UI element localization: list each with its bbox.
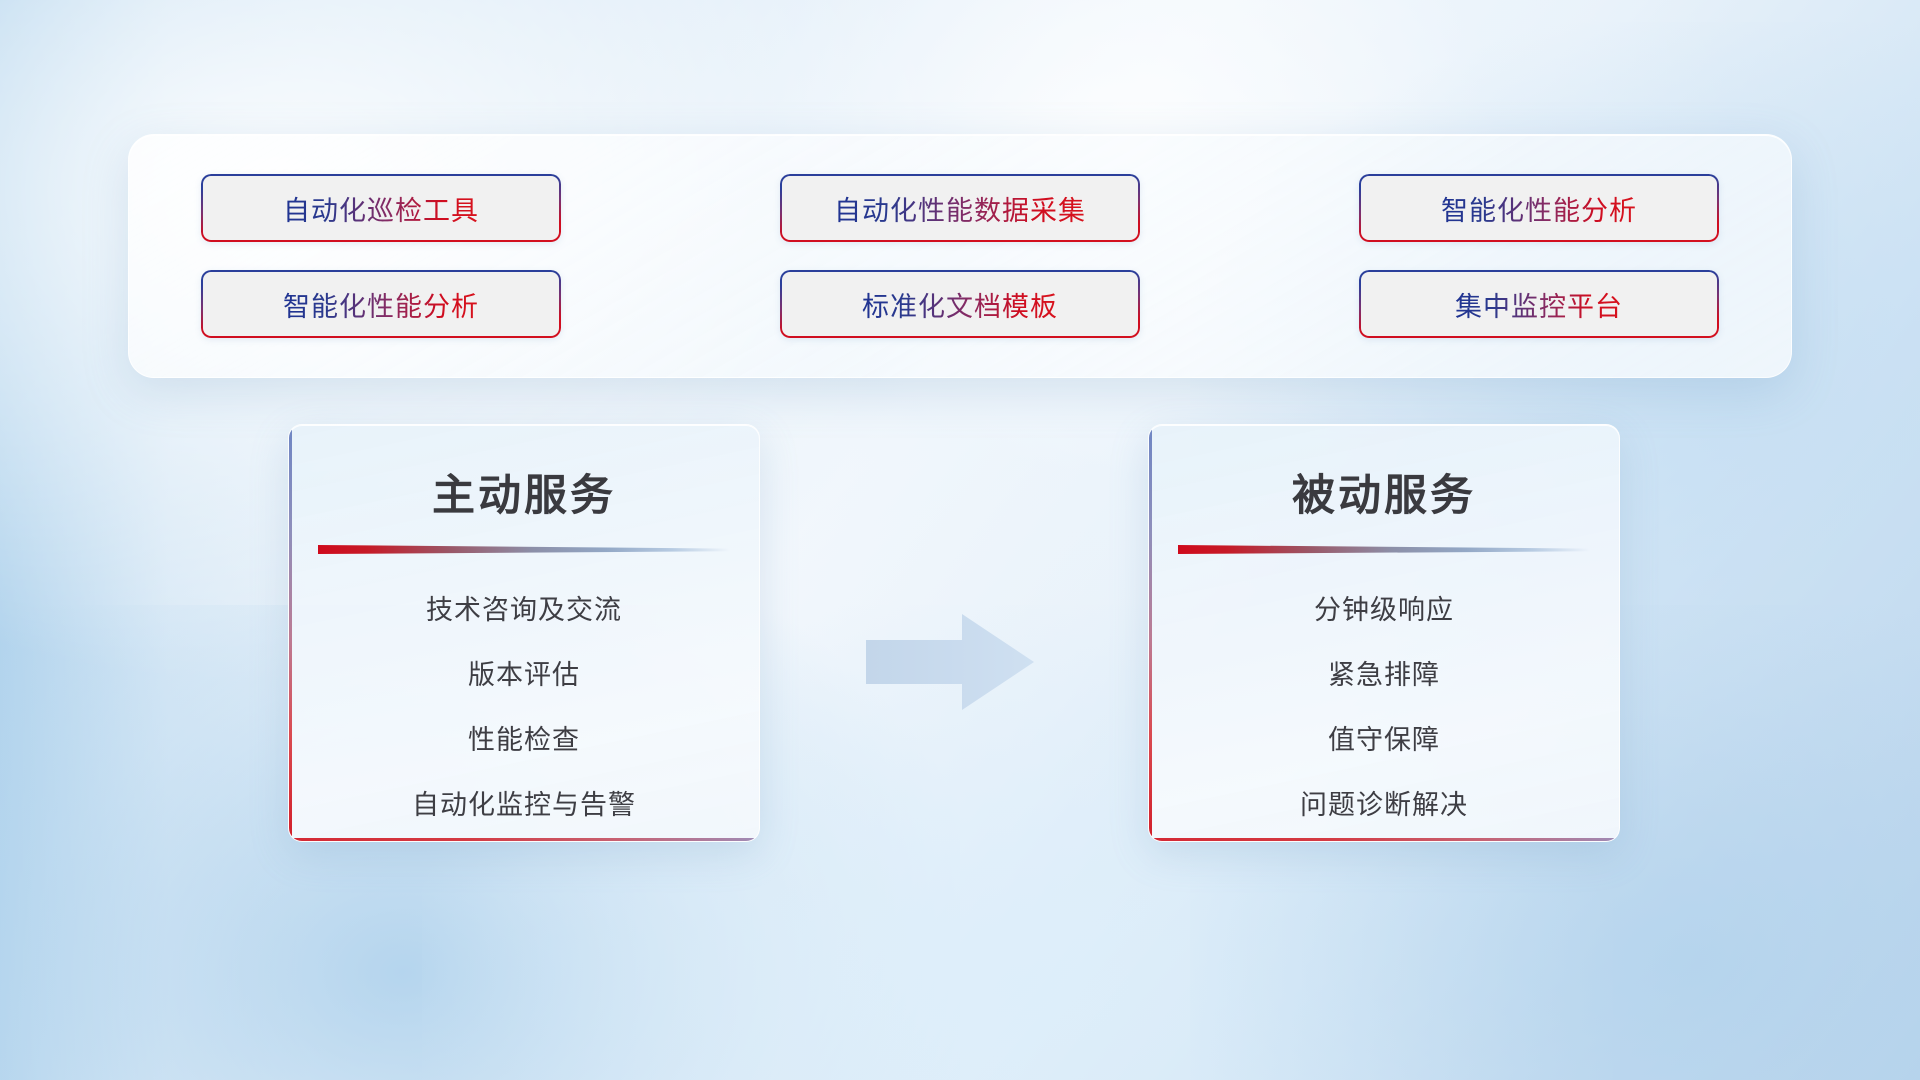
- list-item: 分钟级响应: [1314, 588, 1454, 627]
- list-item: 技术咨询及交流: [426, 588, 622, 627]
- list-item: 紧急排障: [1328, 653, 1440, 692]
- list-item: 问题诊断解决: [1300, 783, 1468, 822]
- capability-pill-smart-perf-analysis[interactable]: 智能化性能分析: [1359, 174, 1719, 242]
- card-title: 主动服务: [289, 461, 759, 523]
- capability-pill-label: 标准化文档模板: [862, 285, 1058, 324]
- capability-panel: 自动化巡检工具 自动化性能数据采集 智能化性能分析 智能化性能分析 标准化文档模…: [128, 134, 1792, 378]
- capability-pill-smart-perf-analysis-2[interactable]: 智能化性能分析: [201, 270, 561, 338]
- capability-pill-label: 自动化巡检工具: [283, 189, 479, 228]
- capability-pill-central-monitoring[interactable]: 集中监控平台: [1359, 270, 1719, 338]
- service-list-reactive: 分钟级响应 紧急排障 值守保障 问题诊断解决 SLA式服务: [1149, 588, 1619, 842]
- capability-pill-standard-doc-template[interactable]: 标准化文档模板: [780, 270, 1140, 338]
- capability-row-1: 自动化巡检工具 自动化性能数据采集 智能化性能分析: [201, 174, 1719, 242]
- card-title: 被动服务: [1149, 461, 1619, 523]
- capability-pill-label: 集中监控平台: [1455, 285, 1623, 324]
- divider-gradient-bar: [1178, 545, 1590, 554]
- capability-pill-auto-inspection-tool[interactable]: 自动化巡检工具: [201, 174, 561, 242]
- card-title-divider: [1178, 545, 1590, 554]
- divider-gradient-bar: [318, 545, 730, 554]
- capability-pill-label: 智能化性能分析: [283, 285, 479, 324]
- service-card-proactive: 主动服务 技术咨询及交流 版本评估 性能检查 自动化监控与告警 健康巡检: [288, 424, 760, 842]
- right-arrow-icon: [866, 614, 1034, 710]
- card-title-divider: [318, 545, 730, 554]
- capability-pill-auto-perf-collection[interactable]: 自动化性能数据采集: [780, 174, 1140, 242]
- capability-pill-label: 智能化性能分析: [1441, 189, 1637, 228]
- service-list-proactive: 技术咨询及交流 版本评估 性能检查 自动化监控与告警 健康巡检: [289, 588, 759, 842]
- capability-pill-label: 自动化性能数据采集: [834, 189, 1086, 228]
- list-item: 性能检查: [468, 718, 580, 757]
- capability-row-2: 智能化性能分析 标准化文档模板 集中监控平台: [201, 270, 1719, 338]
- service-card-reactive: 被动服务 分钟级响应 紧急排障 值守保障 问题诊断解决 SLA式服务: [1148, 424, 1620, 842]
- list-item: 版本评估: [468, 653, 580, 692]
- list-item: 自动化监控与告警: [412, 783, 636, 822]
- list-item: 值守保障: [1328, 718, 1440, 757]
